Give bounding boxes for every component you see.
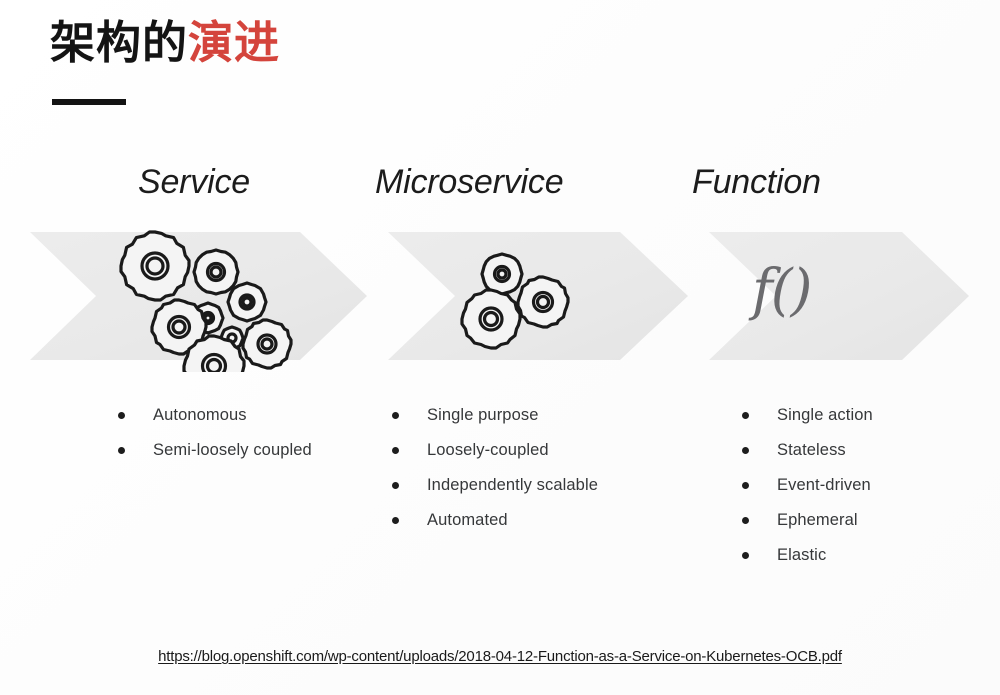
source-link[interactable]: https://blog.openshift.com/wp-content/up… [158,648,842,665]
bullet-label: Single action [777,404,873,428]
bullet-dot-icon [742,412,749,419]
chevron-band [0,224,1000,372]
function-glyph-icon: f() [752,258,810,323]
bullet-label: Event-driven [777,474,871,498]
list-item: Autonomous [118,404,368,428]
bullet-label: Ephemeral [777,509,858,533]
list-item: Automated [392,509,682,533]
list-item: Single action [742,404,992,428]
bullet-dot-icon [742,552,749,559]
page-title: 架构的演进 [50,18,280,68]
bullet-dot-icon [118,412,125,419]
title-underline-rule [52,99,126,105]
list-item: Semi-loosely coupled [118,439,368,463]
bullet-label: Stateless [777,439,846,463]
bullet-label: Single purpose [427,404,538,428]
list-item: Event-driven [742,474,992,498]
bullet-label: Elastic [777,544,826,568]
bullet-dot-icon [392,517,399,524]
bullet-label: Semi-loosely coupled [153,439,312,463]
bullet-label: Autonomous [153,404,247,428]
bullet-dot-icon [742,482,749,489]
slide-canvas: 架构的演进 Service Microservice Function [0,0,1000,695]
list-item: Stateless [742,439,992,463]
list-item: Loosely-coupled [392,439,682,463]
bullet-column-microservice: Single purpose Loosely-coupled Independe… [392,404,682,544]
column-heading-microservice: Microservice [375,163,563,202]
bullet-column-service: Autonomous Semi-loosely coupled [118,404,368,474]
chevron-band-graphic [0,224,1000,372]
chevron-shape-function [709,232,969,360]
page-title-accent-segment: 演进 [188,16,280,69]
bullet-dot-icon [392,482,399,489]
bullet-label: Loosely-coupled [427,439,549,463]
bullet-label: Automated [427,509,508,533]
list-item: Independently scalable [392,474,682,498]
bullet-dot-icon [742,447,749,454]
bullet-dot-icon [392,447,399,454]
bullet-dot-icon [118,447,125,454]
column-heading-function: Function [692,163,821,202]
bullet-dot-icon [392,412,399,419]
bullet-label: Independently scalable [427,474,598,498]
column-heading-service: Service [138,163,250,202]
bullet-column-function: Single action Stateless Event-driven Eph… [742,404,992,579]
list-item: Ephemeral [742,509,992,533]
list-item: Elastic [742,544,992,568]
bullet-dot-icon [742,517,749,524]
page-title-dark-segment: 架构的 [50,16,188,69]
list-item: Single purpose [392,404,682,428]
